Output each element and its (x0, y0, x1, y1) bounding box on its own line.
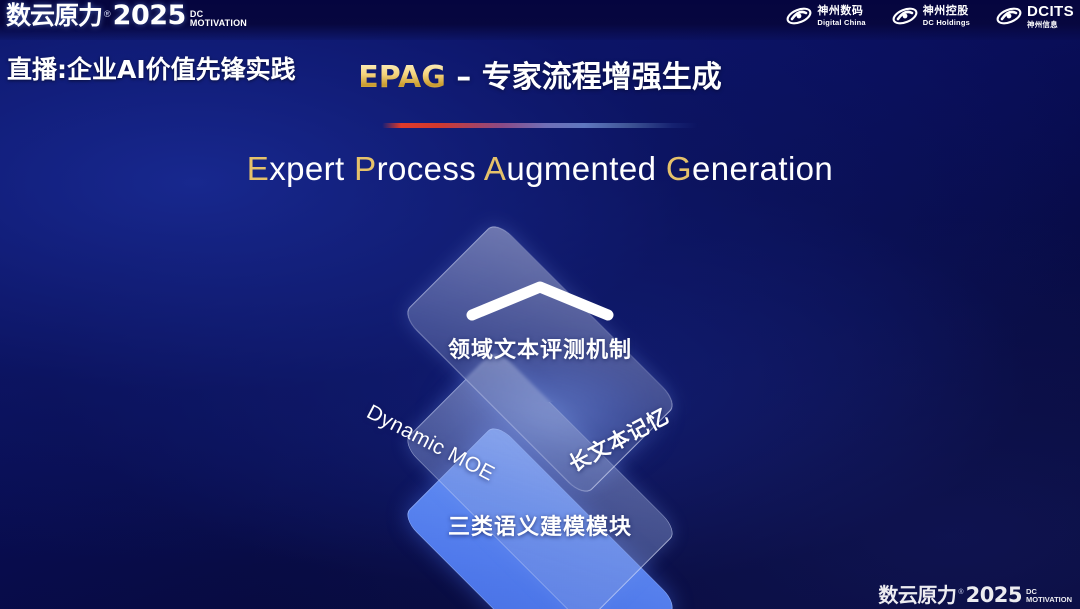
chevron-up-icon (464, 279, 616, 323)
slide-canvas: 数云原力 ® 2025 DC MOTIVATION 直播:企业AI价值先锋实践 … (0, 0, 1080, 609)
watermark-brand: 数云原力 ® 2025 DC MOTIVATION (878, 584, 1072, 606)
watermark-motivation-text: MOTIVATION (1026, 596, 1072, 604)
watermark-name-cn: 数云原力 (878, 584, 956, 606)
watermark-dc-motivation: DC MOTIVATION (1026, 588, 1072, 604)
stack-label-top: 领域文本评测机制 (0, 332, 1080, 364)
watermark-registered-mark-icon: ® (958, 588, 963, 597)
stack-label-bottom: 三类语义建模模块 (0, 509, 1080, 541)
watermark-year: 2025 (966, 584, 1022, 606)
layered-stack-diagram: 领域文本评测机制 Dynamic MOE 长文本记忆 三类语义建模模块 (0, 0, 1080, 609)
